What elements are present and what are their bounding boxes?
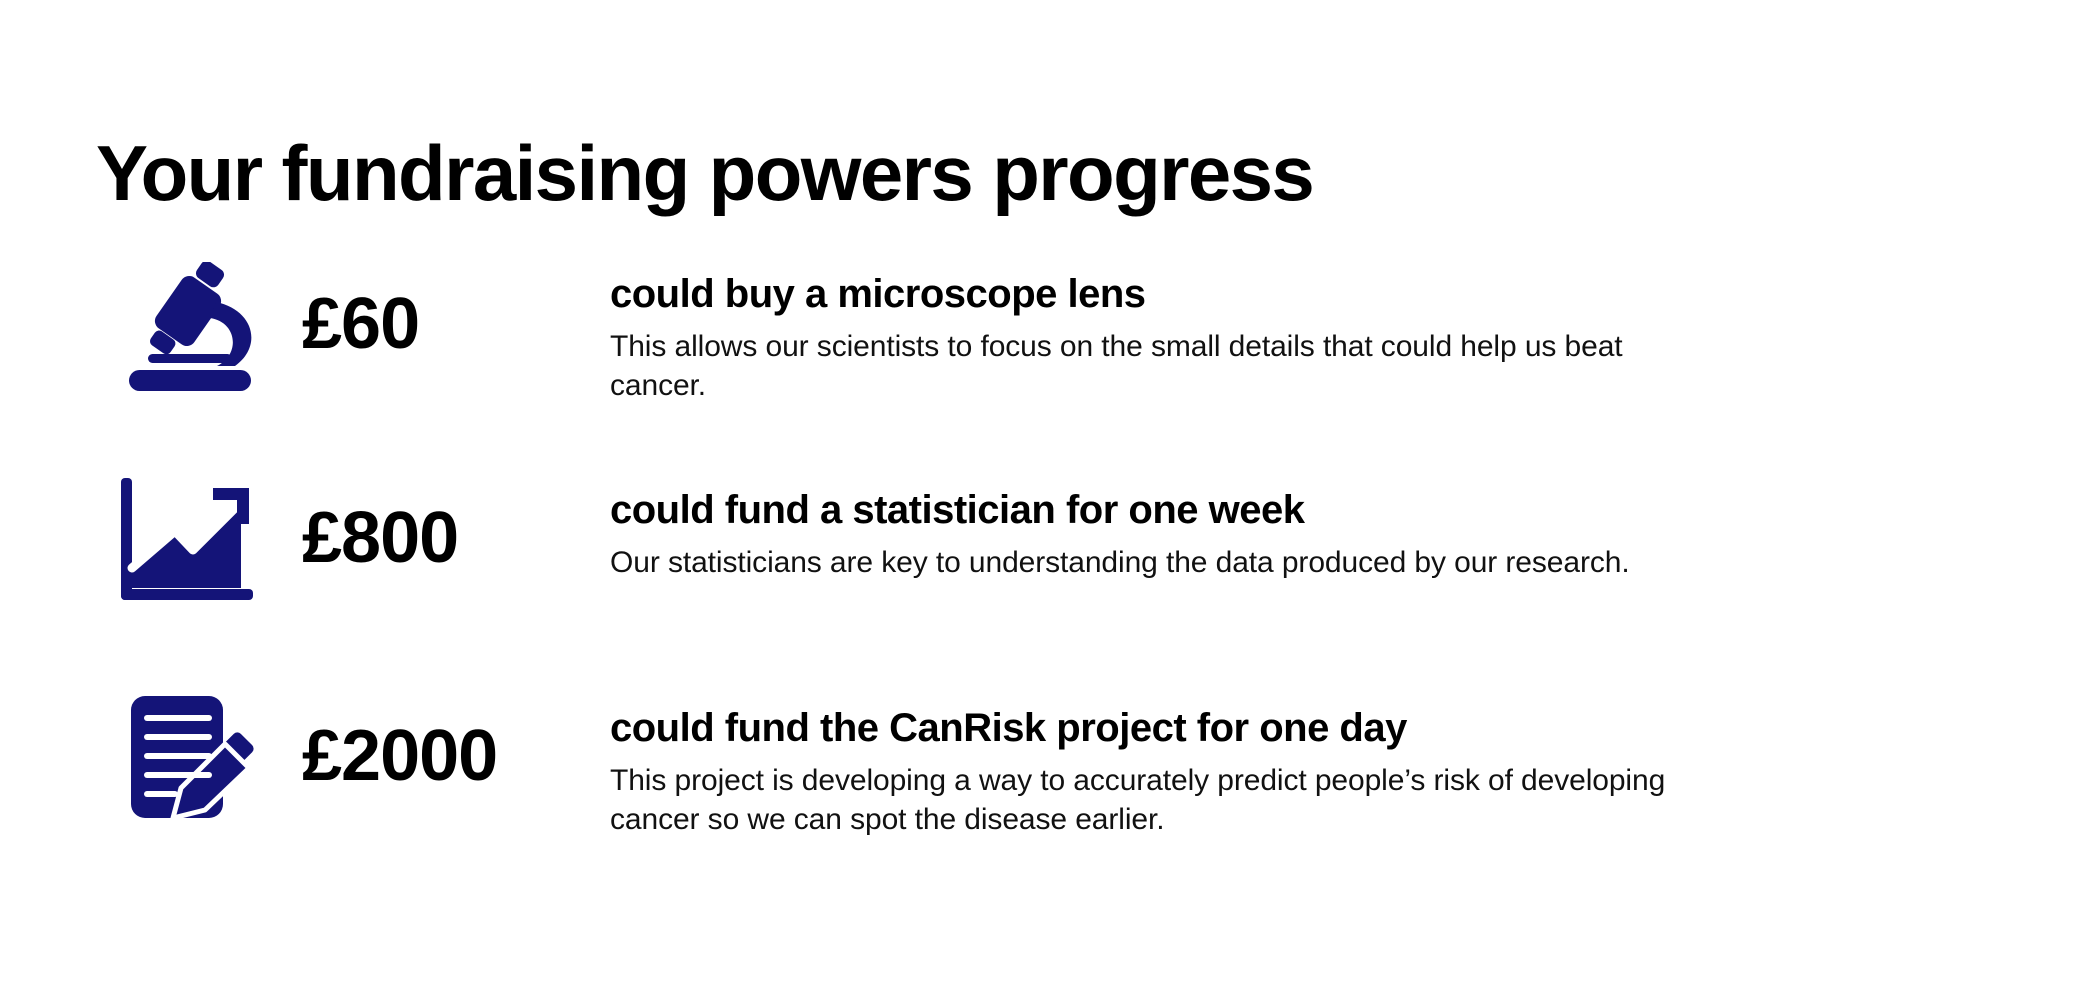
page-title: Your fundraising powers progress bbox=[96, 134, 1313, 212]
list-item: £2000 could fund the CanRisk project for… bbox=[0, 672, 2084, 902]
tier-headline: could buy a microscope lens bbox=[610, 272, 1960, 317]
fundraising-impact-panel: Your fundraising powers progress bbox=[0, 0, 2084, 981]
list-item: £800 could fund a statistician for one w… bbox=[0, 460, 2084, 672]
document-pencil-icon bbox=[108, 688, 268, 828]
tier-description: This allows our scientists to focus on t… bbox=[610, 327, 1690, 405]
amount-value: £800 bbox=[302, 502, 458, 574]
amount-value: £60 bbox=[302, 288, 419, 360]
list-item: £60 could buy a microscope lens This all… bbox=[0, 248, 2084, 460]
impact-tier-list: £60 could buy a microscope lens This all… bbox=[0, 248, 2084, 902]
tier-text-block: could fund a statistician for one week O… bbox=[610, 488, 1960, 582]
tier-text-block: could buy a microscope lens This allows … bbox=[610, 272, 1960, 405]
growth-chart-icon bbox=[108, 472, 268, 612]
tier-headline: could fund a statistician for one week bbox=[610, 488, 1960, 533]
tier-description: This project is developing a way to accu… bbox=[610, 761, 1740, 839]
tier-text-block: could fund the CanRisk project for one d… bbox=[610, 706, 1960, 839]
tier-headline: could fund the CanRisk project for one d… bbox=[610, 706, 1960, 751]
amount-value: £2000 bbox=[302, 720, 497, 792]
microscope-icon bbox=[108, 258, 268, 398]
tier-description: Our statisticians are key to understandi… bbox=[610, 543, 1840, 582]
